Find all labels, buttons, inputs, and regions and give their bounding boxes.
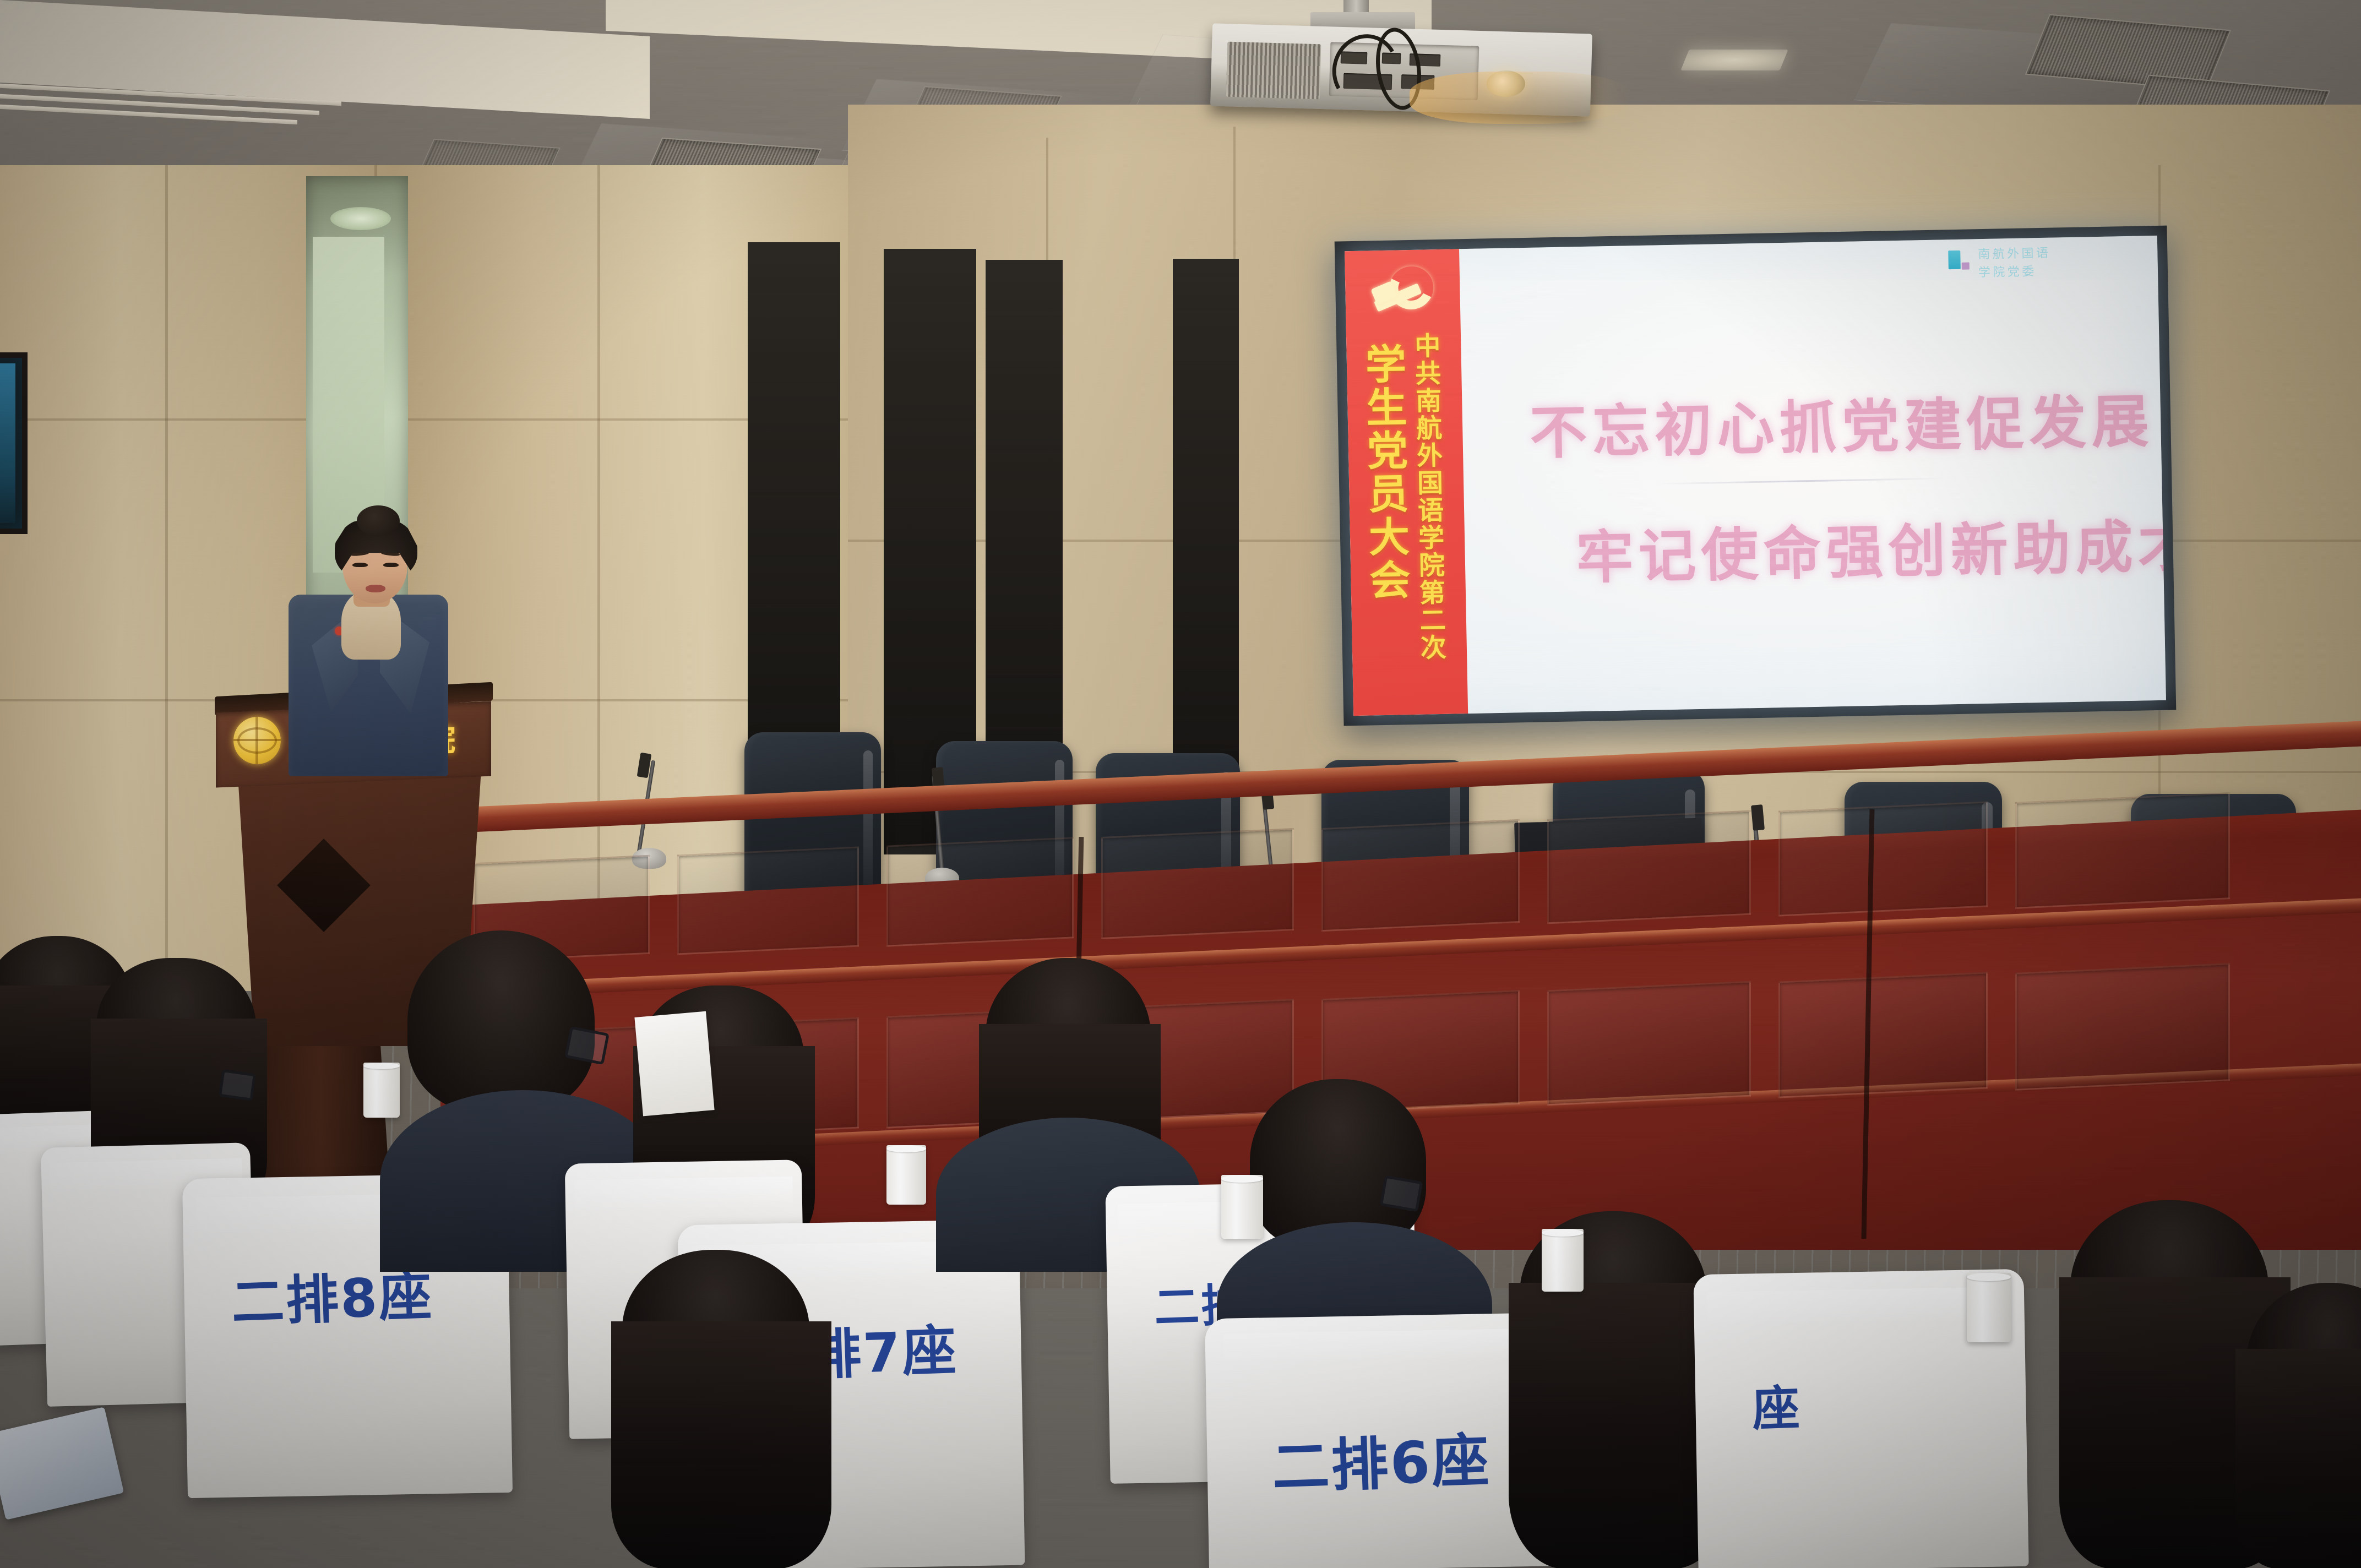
slide-watermark-mark	[1948, 251, 1961, 269]
stone-seam	[165, 165, 168, 991]
globe-emblem-arc	[237, 727, 277, 754]
head-table-panel	[1778, 801, 1988, 916]
paper-cup	[363, 1063, 400, 1118]
monitor-screen-glow	[0, 363, 15, 523]
head-table-panel	[2015, 792, 2230, 909]
door-reflected-light	[330, 207, 391, 230]
head-table-panel	[886, 837, 1074, 946]
paper-cup	[1967, 1273, 2011, 1342]
seat-label: 座	[1751, 1369, 1802, 1439]
head-table-panel	[1547, 981, 1751, 1106]
speaker-mouth	[366, 585, 385, 592]
speaker-eye-right	[383, 563, 399, 567]
hammer-and-sickle-emblem	[1370, 264, 1440, 322]
audience-hair	[2235, 1349, 2361, 1568]
head-table-panel	[677, 847, 859, 955]
slide-red-banner: 学生党员大会 中共南航外国语学院第二次	[1345, 249, 1468, 716]
ceiling-downlight	[1680, 50, 1788, 70]
conference-hall-photo: 学生党员大会 中共南航外国语学院第二次 不忘初心抓党建促发展 牢记使命强创新助成…	[0, 0, 2361, 1568]
eyeglasses	[1380, 1175, 1423, 1212]
paper-cup	[1221, 1175, 1263, 1239]
projector-exhaust-vent	[1226, 42, 1321, 100]
tablet-device[interactable]	[0, 1407, 124, 1520]
slide-watermark-dot	[1962, 262, 1970, 269]
projector-light-spill	[1410, 72, 1630, 124]
microphone-capsule	[1751, 804, 1765, 831]
seat-label: 二排6座	[1270, 1413, 1492, 1504]
head-table-panel	[2015, 963, 2230, 1091]
screen-light-bloom	[1345, 236, 2166, 716]
audience-hair	[611, 1321, 831, 1568]
head-table-panel	[1778, 972, 1988, 1098]
head-table-panel	[1321, 819, 1520, 932]
eyeglasses	[219, 1069, 256, 1101]
banner-main-text: 学生党员大会	[1361, 342, 1409, 695]
speaker-eye-left	[352, 563, 368, 567]
paper-sheet	[634, 1011, 714, 1117]
paper-cup	[886, 1145, 926, 1205]
banner-sub-text: 中共南航外国语学院第二次	[1411, 332, 1445, 716]
paper-cup	[1542, 1229, 1584, 1292]
slide-headline-line1: 不忘初心抓党建促发展	[1529, 374, 2155, 470]
slide-watermark-text: 南航外国语 学院党委	[1978, 244, 2051, 282]
head-table-panel	[1101, 828, 1294, 939]
globe-emblem	[233, 717, 281, 764]
projection-screen: 学生党员大会 中共南航外国语学院第二次 不忘初心抓党建促发展 牢记使命强创新助成…	[1345, 236, 2166, 716]
audience-head	[407, 930, 595, 1112]
projection-screen-frame: 学生党员大会 中共南航外国语学院第二次 不忘初心抓党建促发展 牢记使命强创新助成…	[1335, 226, 2177, 726]
slide-headline-line2: 牢记使命强创新助成才	[1575, 499, 2166, 595]
stone-seam	[0, 418, 859, 421]
head-table-panel	[1547, 810, 1751, 924]
speaker-hair-bun	[357, 505, 400, 536]
